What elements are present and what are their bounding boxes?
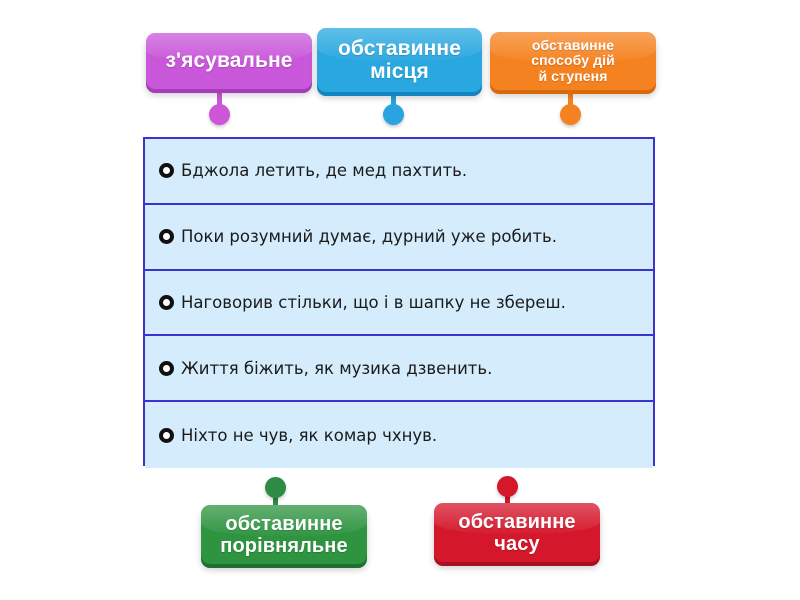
label-chip-obstavynne-mistsya[interactable]: обставинне місця (317, 28, 482, 92)
answer-row[interactable]: Ніхто не чув, як комар чхнув. (145, 402, 653, 468)
label-chip-obstavynne-chasu[interactable]: обставинне часу (434, 503, 600, 562)
pin-knob (497, 476, 518, 497)
pin-knob (265, 477, 286, 498)
label-chip-text: з'ясувальне (156, 49, 302, 72)
answer-row[interactable]: Бджола летить, де мед пахтить. (145, 139, 653, 205)
answer-list: Бджола летить, де мед пахтить. Поки розу… (143, 137, 655, 466)
radio-unselected-icon[interactable] (159, 428, 174, 443)
label-chip-obstavynne-sposobu-diy[interactable]: обставинне способу дій й ступеня (490, 32, 656, 90)
answer-row-text: Наговорив стільки, що і в шапку не збере… (181, 293, 566, 312)
radio-unselected-icon[interactable] (159, 361, 174, 376)
answer-row-text: Поки розумний думає, дурний уже робить. (181, 227, 557, 246)
radio-unselected-icon[interactable] (159, 163, 174, 178)
pin-knob (383, 104, 404, 125)
activity-canvas: з'ясувальне обставинне місця обставинне … (0, 0, 800, 600)
pin-knob (209, 104, 230, 125)
answer-row-text: Життя біжить, як музика дзвенить. (181, 359, 492, 378)
answer-row[interactable]: Поки розумний думає, дурний уже робить. (145, 205, 653, 271)
answer-row-text: Бджола летить, де мед пахтить. (181, 161, 467, 180)
answer-row[interactable]: Наговорив стільки, що і в шапку не збере… (145, 271, 653, 337)
label-chip-zyasuvalne[interactable]: з'ясувальне (146, 33, 312, 89)
label-chip-text: обставинне місця (327, 37, 472, 83)
answer-row[interactable]: Життя біжить, як музика дзвенить. (145, 336, 653, 402)
radio-unselected-icon[interactable] (159, 229, 174, 244)
label-chip-obstavynne-porivnyalne[interactable]: обставинне порівняльне (201, 505, 367, 564)
radio-unselected-icon[interactable] (159, 295, 174, 310)
label-chip-text: обставинне порівняльне (211, 513, 357, 557)
label-chip-text: обставинне способу дій й ступеня (500, 38, 646, 84)
label-chip-text: обставинне часу (444, 511, 590, 555)
pin-knob (560, 104, 581, 125)
answer-row-text: Ніхто не чув, як комар чхнув. (181, 426, 437, 445)
